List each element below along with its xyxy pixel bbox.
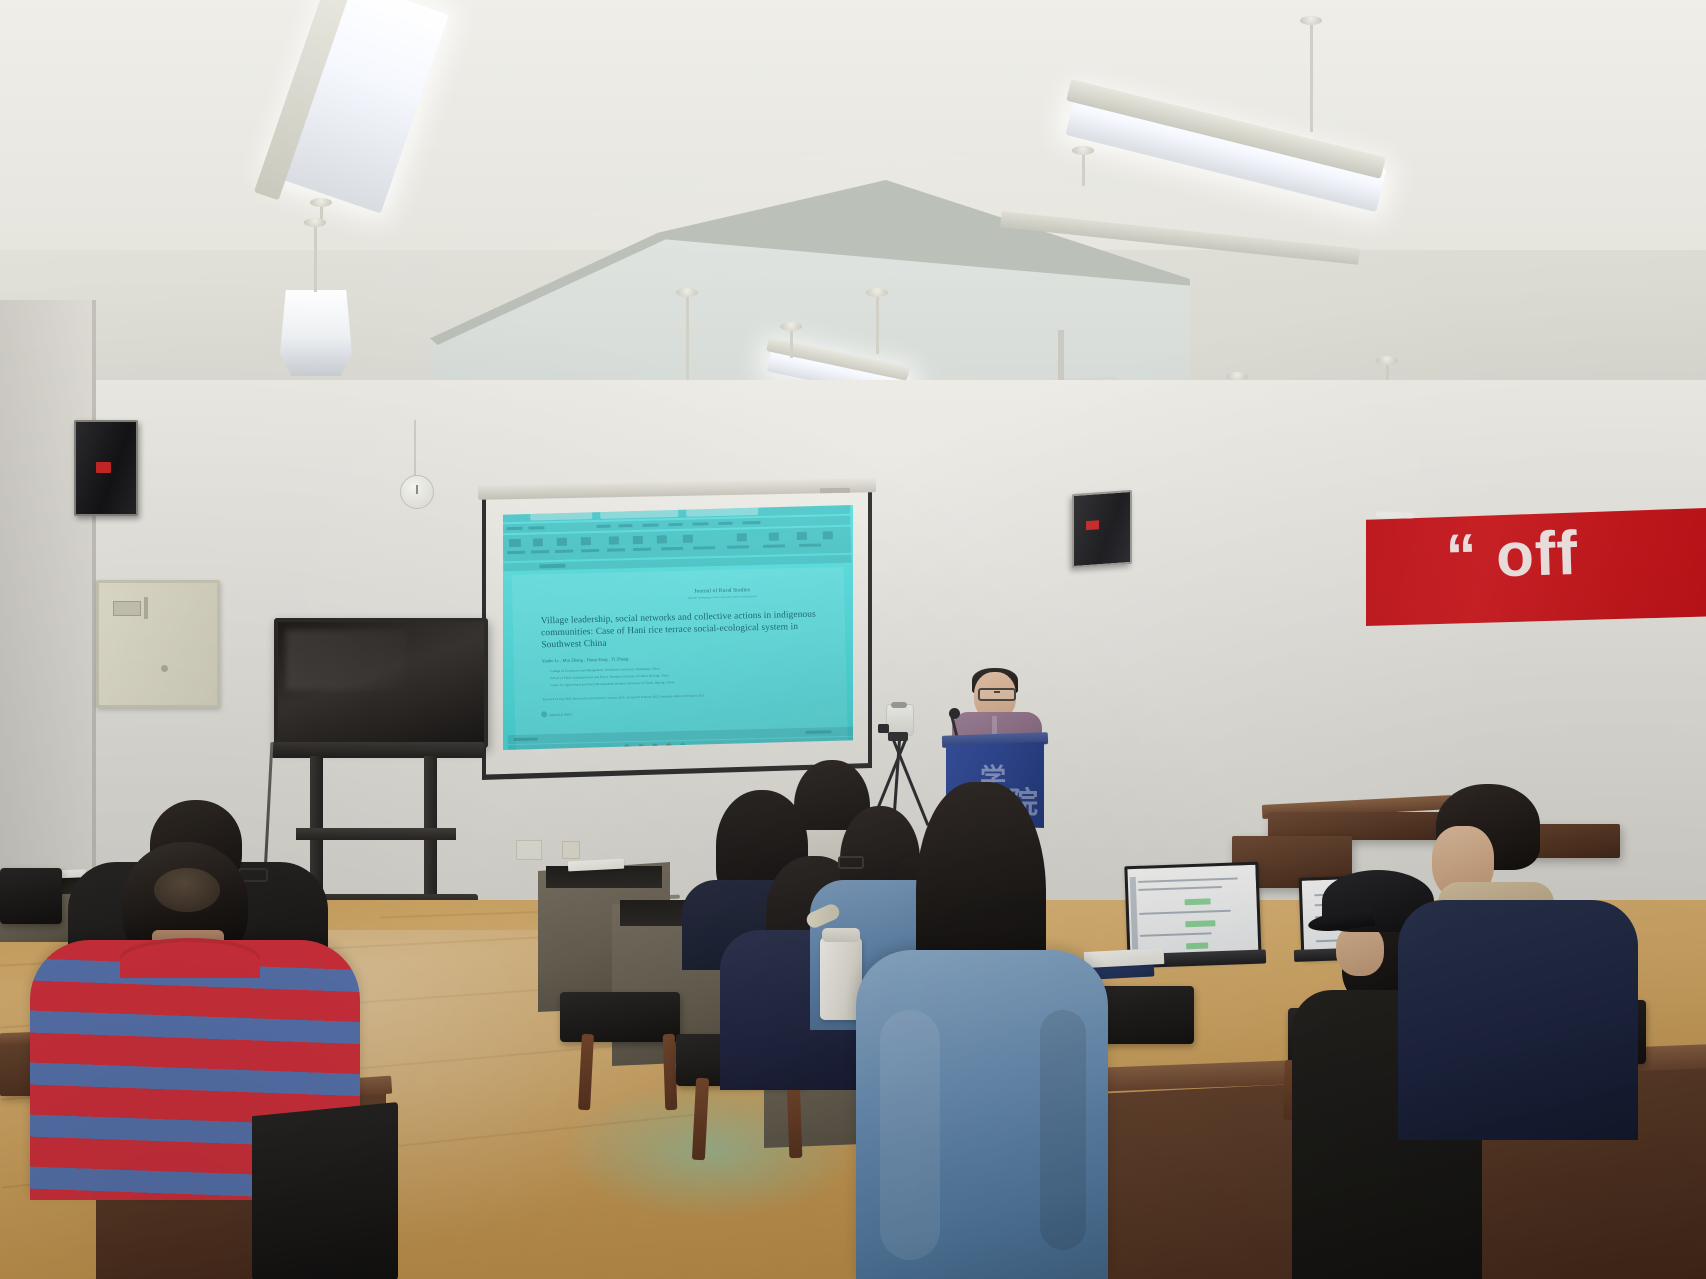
ribbon-label bbox=[507, 551, 525, 554]
tripod-camera bbox=[878, 724, 889, 733]
chair-left-back[interactable] bbox=[0, 868, 62, 924]
jacket-fold-highlight bbox=[880, 1010, 940, 1260]
light-stem-cap-1 bbox=[310, 198, 332, 207]
light-stem-cap-6a bbox=[1072, 146, 1094, 155]
ribbon-label bbox=[763, 544, 785, 548]
person-glasses-denim bbox=[838, 856, 864, 869]
jacket-fold-shadow bbox=[1040, 1010, 1086, 1250]
chair-foreground-left[interactable] bbox=[252, 1102, 398, 1279]
menu-item[interactable] bbox=[668, 523, 682, 526]
panel-label-plate bbox=[113, 601, 141, 616]
ribbon-button[interactable] bbox=[581, 537, 591, 545]
ribbon-button[interactable] bbox=[557, 538, 567, 546]
ribbon-button[interactable] bbox=[823, 531, 833, 539]
person-body-navy-jacket-man bbox=[1398, 900, 1638, 1140]
wall-speaker-left bbox=[74, 420, 138, 516]
projected-document: Journal of Rural Studies journal homepag… bbox=[503, 505, 853, 750]
light-stem-cap-6b bbox=[1300, 16, 1322, 25]
tripod-light-top bbox=[891, 702, 907, 708]
ribbon-button[interactable] bbox=[737, 533, 747, 541]
breadcrumb-chip[interactable] bbox=[539, 564, 565, 569]
tv-screen-reflection bbox=[286, 630, 406, 690]
menu-item[interactable] bbox=[596, 525, 610, 528]
menu-item[interactable] bbox=[528, 526, 544, 529]
ribbon-button[interactable] bbox=[609, 536, 619, 544]
ribbon-button[interactable] bbox=[683, 535, 693, 543]
ribbon-label bbox=[661, 547, 683, 551]
projector-mount bbox=[1058, 330, 1064, 386]
tv-display[interactable] bbox=[274, 618, 488, 748]
projection-screen-tab bbox=[820, 488, 850, 494]
menu-item[interactable] bbox=[506, 527, 522, 530]
ceiling-light-2 bbox=[280, 290, 352, 376]
clock-wire bbox=[414, 420, 416, 478]
ribbon-button[interactable] bbox=[533, 538, 543, 546]
microphone-head bbox=[949, 708, 960, 719]
laptop-text-line bbox=[1139, 910, 1231, 915]
wall-clock bbox=[400, 475, 434, 509]
laptop-highlight bbox=[1185, 898, 1211, 905]
article-badge-icon bbox=[541, 711, 547, 717]
ribbon-label bbox=[581, 549, 599, 552]
clock-hand bbox=[416, 485, 418, 494]
ribbon-label bbox=[555, 550, 573, 553]
tv-stand-shelf bbox=[296, 828, 456, 840]
speaker-led-icon bbox=[96, 462, 111, 473]
menu-item[interactable] bbox=[642, 523, 658, 526]
panel-handle[interactable] bbox=[161, 665, 168, 672]
ribbon-label bbox=[693, 546, 715, 550]
laptop-sidebar bbox=[1130, 877, 1139, 953]
light-stem-cap-7b bbox=[1376, 356, 1398, 365]
ribbon-label bbox=[799, 543, 821, 547]
presenter-glasses-bridge bbox=[994, 691, 1000, 693]
ribbon-button[interactable] bbox=[509, 539, 521, 547]
ribbon-button[interactable] bbox=[797, 532, 807, 540]
ribbon-label bbox=[727, 545, 749, 549]
banner-text: “ off bbox=[1445, 514, 1706, 611]
panel-slot bbox=[144, 597, 148, 619]
left-wall bbox=[0, 300, 95, 960]
light-stem-cap-5 bbox=[676, 288, 698, 297]
tv-bottom-bar bbox=[272, 742, 484, 758]
chair-center[interactable] bbox=[560, 992, 680, 1042]
menu-item[interactable] bbox=[742, 521, 760, 524]
light-stem-4b bbox=[876, 292, 879, 354]
ribbon-label bbox=[633, 548, 651, 551]
menu-item[interactable] bbox=[618, 524, 632, 527]
laptop-text-line bbox=[1140, 932, 1212, 937]
light-stem-2 bbox=[314, 222, 317, 292]
menu-item[interactable] bbox=[718, 522, 732, 525]
ribbon-button[interactable] bbox=[657, 535, 667, 543]
electrical-panel[interactable] bbox=[96, 580, 220, 708]
light-stem-cap-4a bbox=[780, 322, 802, 331]
ribbon-label bbox=[607, 548, 625, 551]
wall-outlet[interactable] bbox=[516, 840, 542, 860]
laptop-text-line bbox=[1138, 877, 1238, 882]
wall-outlet-secondary[interactable] bbox=[562, 841, 580, 859]
classroom-photo: Journal of Rural Studies journal homepag… bbox=[0, 0, 1706, 1279]
paper-title: Village leadership, social networks and … bbox=[541, 609, 830, 651]
laptop-highlight bbox=[1185, 920, 1215, 927]
projected-document-inner: Journal of Rural Studies journal homepag… bbox=[503, 505, 853, 750]
status-zoom[interactable] bbox=[806, 730, 832, 734]
presenter-glasses bbox=[978, 688, 1016, 701]
light-stem-cap-4b bbox=[866, 288, 888, 297]
tv-stand-column-right bbox=[424, 756, 437, 898]
ribbon-label bbox=[531, 550, 549, 553]
wall-speaker-right bbox=[1072, 490, 1132, 568]
polo-collar bbox=[120, 938, 260, 978]
person-scalp-striped-polo bbox=[154, 868, 220, 912]
laptop-highlight bbox=[1186, 942, 1208, 949]
menu-item[interactable] bbox=[692, 522, 708, 525]
light-stem-6a bbox=[1082, 150, 1085, 186]
light-stem-cap-2 bbox=[304, 218, 326, 227]
light-stem-6b bbox=[1310, 20, 1313, 132]
ribbon-button[interactable] bbox=[769, 533, 779, 541]
thermos-cap bbox=[822, 928, 860, 942]
laptop-text-line bbox=[1138, 886, 1222, 891]
speaker-led-icon bbox=[1086, 520, 1099, 530]
ribbon-button[interactable] bbox=[633, 536, 643, 544]
status-page bbox=[514, 737, 538, 741]
